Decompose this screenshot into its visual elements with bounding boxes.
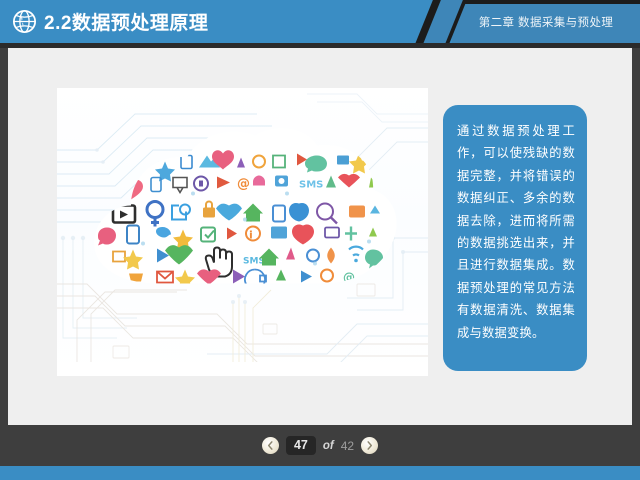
previous-page-button[interactable] (262, 437, 279, 454)
slide-body: @ SMS (8, 48, 632, 425)
cloud-of-icons-icon: @ SMS (73, 124, 413, 309)
pagination-control: 47 of 42 (0, 426, 640, 465)
header-title-area: 2.2数据预处理原理 (0, 0, 452, 43)
svg-text:@: @ (237, 177, 250, 192)
svg-text:SMS: SMS (299, 180, 323, 191)
callout-box: 通过数据预处理工作，可以使残缺的数据完整，并将错误的数据纠正、多余的数据去除，进… (443, 105, 587, 371)
current-page-input[interactable]: 47 (286, 436, 316, 456)
chapter-label: 第二章 数据采集与预处理 (452, 0, 640, 43)
total-pages-label: 42 (341, 439, 354, 453)
image-bottom-band (57, 362, 428, 376)
header-chapter-area: 第二章 数据采集与预处理 (452, 0, 640, 43)
slide-footer: 47 of 42 (0, 426, 640, 465)
callout-text: 通过数据预处理工作，可以使残缺的数据完整，并将错误的数据纠正、多余的数据去除，进… (457, 120, 575, 344)
page-of-label: of (323, 440, 334, 452)
presentation-slide: 2.2数据预处理原理 第二章 数据采集与预处理 (0, 0, 640, 480)
next-page-button[interactable] (361, 437, 378, 454)
svg-text:i: i (249, 229, 253, 242)
slide-image: @ SMS (57, 88, 428, 376)
slide-header: 2.2数据预处理原理 第二章 数据采集与预处理 (0, 0, 640, 43)
bottom-accent-strip (0, 466, 640, 480)
chevron-left-icon (266, 441, 275, 450)
page-title: 2.2数据预处理原理 (44, 8, 208, 35)
icon-cloud-group: @ SMS (57, 88, 428, 376)
globe-icon (12, 9, 37, 34)
chevron-right-icon (365, 441, 374, 450)
svg-text:@: @ (343, 271, 355, 285)
